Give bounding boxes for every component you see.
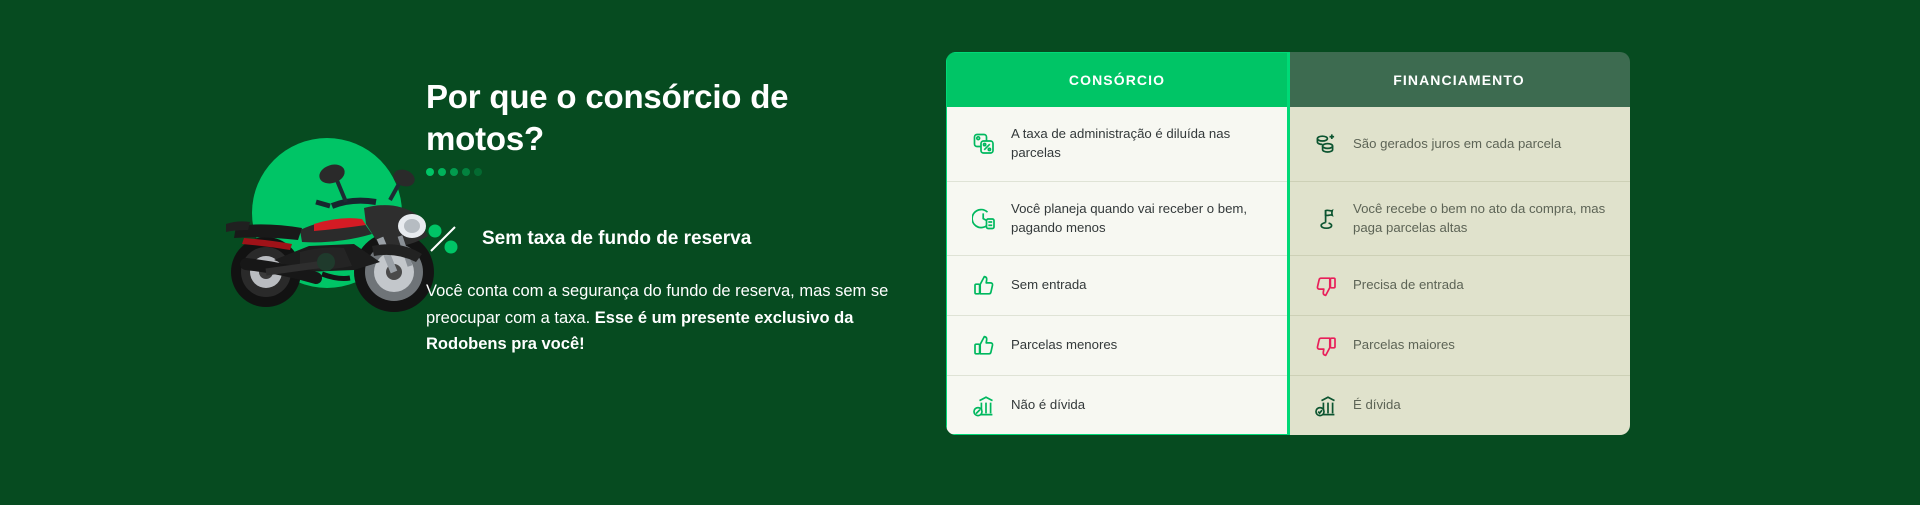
- feature-title: Sem taxa de fundo de reserva: [482, 228, 751, 250]
- thumbs-up-icon: [972, 274, 996, 298]
- cell-label: Precisa de entrada: [1353, 276, 1464, 295]
- table-row: Precisa de entrada: [1288, 255, 1630, 315]
- column-consorcio: CONSÓRCIO A taxa de administração é dilu…: [946, 52, 1288, 435]
- carousel-dot[interactable]: [450, 168, 458, 176]
- column-body-consorcio: A taxa de administração é diluída nas pa…: [946, 107, 1288, 435]
- table-row: Não é dívida: [946, 375, 1288, 435]
- table-row: Sem entrada: [946, 255, 1288, 315]
- two-dots-diagonal-slash-icon: [426, 222, 460, 256]
- column-header-financiamento: FINANCIAMENTO: [1288, 52, 1630, 107]
- coins-plus-icon: [1314, 132, 1338, 156]
- calculator-percent-icon: [972, 132, 996, 156]
- cell-label: É dívida: [1353, 396, 1401, 415]
- cell-label: Você recebe o bem no ato da compra, mas …: [1353, 200, 1610, 237]
- motorcycle-icon: [204, 160, 454, 320]
- cell-label: Parcelas maiores: [1353, 336, 1455, 355]
- thumbs-down-icon: [1314, 334, 1338, 358]
- column-body-financiamento: São gerados juros em cada parcela Você r…: [1288, 107, 1630, 435]
- column-divider: [1288, 52, 1290, 435]
- feature-description: Você conta com a segurança do fundo de r…: [426, 278, 904, 358]
- column-header-consorcio: CONSÓRCIO: [946, 52, 1288, 107]
- table-row: Você planeja quando vai receber o bem, p…: [946, 181, 1288, 255]
- thumbs-up-icon: [972, 334, 996, 358]
- carousel-dot[interactable]: [438, 168, 446, 176]
- carousel-dots[interactable]: [426, 168, 482, 176]
- table-row: São gerados juros em cada parcela: [1288, 107, 1630, 181]
- cell-label: São gerados juros em cada parcela: [1353, 135, 1561, 154]
- flag-pin-icon: [1314, 207, 1338, 231]
- column-financiamento: FINANCIAMENTO São gerados juros em cada …: [1288, 52, 1630, 435]
- cell-label: Você planeja quando vai receber o bem, p…: [1011, 200, 1268, 237]
- cell-label: Parcelas menores: [1011, 336, 1117, 355]
- table-row: É dívida: [1288, 375, 1630, 435]
- cell-label: Não é dívida: [1011, 396, 1085, 415]
- clock-calendar-icon: [972, 207, 996, 231]
- bank-no-debt-icon: [972, 394, 996, 418]
- bank-debt-icon: [1314, 394, 1338, 418]
- carousel-dot[interactable]: [474, 168, 482, 176]
- cell-label: A taxa de administração é diluída nas pa…: [1011, 125, 1268, 162]
- feature-highlight: Sem taxa de fundo de reserva: [426, 222, 751, 256]
- page-title: Por que o consórcio de motos?: [426, 76, 856, 160]
- carousel-dot[interactable]: [462, 168, 470, 176]
- carousel-dot[interactable]: [426, 168, 434, 176]
- table-row: A taxa de administração é diluída nas pa…: [946, 107, 1288, 181]
- motorcycle-illustration: [252, 138, 402, 320]
- table-row: Parcelas maiores: [1288, 315, 1630, 375]
- cell-label: Sem entrada: [1011, 276, 1087, 295]
- table-row: Parcelas menores: [946, 315, 1288, 375]
- table-row: Você recebe o bem no ato da compra, mas …: [1288, 181, 1630, 255]
- thumbs-down-icon: [1314, 274, 1338, 298]
